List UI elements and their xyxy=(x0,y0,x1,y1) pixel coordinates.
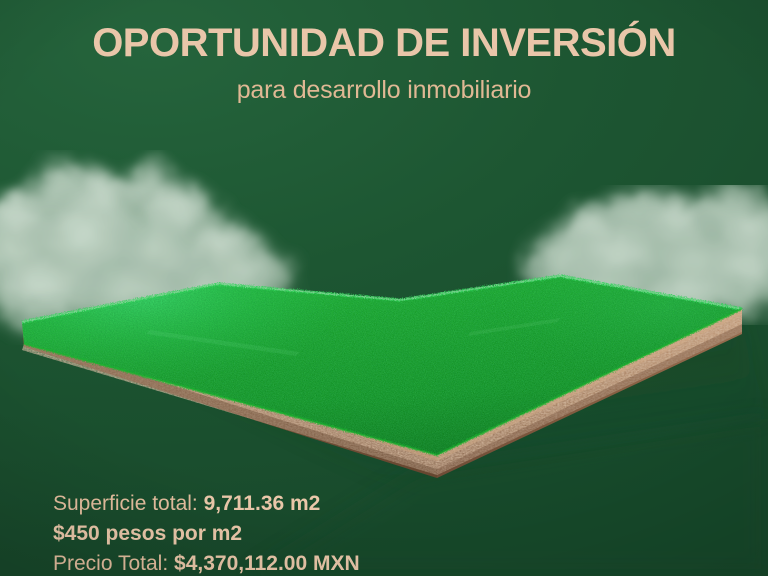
surface-label: Superficie total: xyxy=(53,492,198,515)
property-facts: Superficie total: 9,711.36 m2 $450 pesos… xyxy=(53,489,713,576)
fact-price-per-m2: $450 pesos por m2 xyxy=(53,519,713,549)
price-per-m2-value: $450 pesos por m2 xyxy=(53,522,242,545)
fact-total-price: Precio Total: $4,370,112.00 MXN xyxy=(53,549,713,576)
total-value: $4,370,112.00 MXN xyxy=(174,552,360,575)
total-label: Precio Total: xyxy=(53,552,168,575)
page-title: OPORTUNIDAD DE INVERSIÓN xyxy=(0,22,768,65)
investment-opportunity-poster: OPORTUNIDAD DE INVERSIÓN para desarrollo… xyxy=(0,0,768,576)
surface-value: 9,711.36 m2 xyxy=(204,492,321,515)
page-subtitle: para desarrollo inmobiliario xyxy=(0,76,768,105)
fact-surface: Superficie total: 9,711.36 m2 xyxy=(53,489,713,519)
